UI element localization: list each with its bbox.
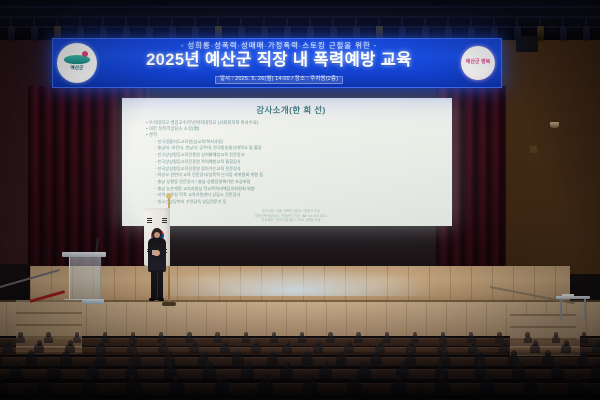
audience-head: [564, 340, 569, 346]
audience-head: [75, 332, 79, 337]
audience-head: [192, 340, 197, 346]
foreground-shadow: [0, 352, 600, 400]
audience-head: [131, 332, 135, 337]
audience-head: [441, 332, 445, 337]
audience-head: [285, 340, 290, 346]
audience-head: [161, 340, 166, 346]
banner-subtitle: - 성희롱·성폭력·성매매·가정폭력·스토킹 근절을 위한 -: [101, 42, 457, 50]
audience-head: [385, 332, 389, 337]
ceiling-lighting-rig: [0, 0, 600, 40]
audience-head: [409, 340, 414, 346]
emblem-swoosh-icon: [64, 55, 90, 64]
stage-light-icon: [583, 26, 590, 40]
audience-head: [300, 332, 304, 337]
audience-head: [187, 332, 191, 337]
audience-head: [99, 340, 104, 346]
audience-head: [497, 332, 501, 337]
lecturer-hands: [153, 250, 160, 256]
stage-light-icon: [560, 26, 567, 40]
stage-light-icon: [8, 26, 15, 40]
auditorium-photo: 강사소개(한 희 선) ▪ 우석대학교 겸임교수/부산여자대학교 (사회복지학 …: [0, 0, 600, 400]
female-lecturer-in-black: [146, 228, 168, 306]
audience-head: [378, 340, 383, 346]
audience-head: [356, 332, 360, 337]
audience-head: [471, 340, 476, 346]
audience-head: [316, 340, 321, 346]
wall-sconce-icon: [550, 122, 559, 128]
audience-head: [254, 340, 259, 346]
stage-light-icon: [537, 26, 544, 40]
logo-right-label: 예산군 행복: [466, 60, 490, 66]
audience-head: [347, 340, 352, 346]
banner-title: 2025년 예산군 직장 내 폭력예방 교육: [101, 52, 457, 69]
wall-speaker-icon: [516, 36, 538, 52]
audience-head: [6, 340, 11, 346]
audience-head: [328, 332, 332, 337]
audience-head: [595, 340, 600, 346]
audience-head: [244, 332, 248, 337]
lecturer-shoe-right: [158, 298, 164, 301]
audience-head: [18, 332, 22, 337]
audience-head: [46, 332, 50, 337]
audience-head: [533, 340, 538, 346]
banner-text-block: - 성희롱·성폭력·성매매·가정폭력·스토킹 근절을 위한 - 2025년 예산…: [97, 42, 461, 84]
audience-head: [554, 332, 558, 337]
stage-spotlight: [150, 266, 440, 296]
campaign-logo-icon: 예산군 행복: [461, 46, 495, 80]
audience-head: [582, 332, 586, 337]
event-banner: 예산군 - 성희롱·성폭력·성매매·가정폭력·스토킹 근절을 위한 - 2025…: [52, 38, 502, 88]
side-table-right: [556, 296, 590, 322]
lecturer-shoe-left: [149, 298, 155, 301]
audience-head: [272, 332, 276, 337]
audience-head: [37, 340, 42, 346]
audience-head: [525, 332, 529, 337]
audience-head: [413, 332, 417, 337]
audience-head: [502, 340, 507, 346]
audience-head: [215, 332, 219, 337]
audience-head: [440, 340, 445, 346]
banner-datetime-venue: 일시 : 2025. 5. 26(월) 14:00 / 장소 : 주차동(2층): [215, 76, 343, 84]
audience-head: [68, 340, 73, 346]
audience-head: [130, 340, 135, 346]
lectern-body: [69, 257, 101, 299]
logo-left-label: 예산군: [70, 65, 83, 71]
yesan-county-logo-icon: 예산군: [57, 43, 97, 83]
wall-outlet-icon: [530, 146, 537, 153]
stage-light-icon: [31, 26, 38, 40]
audience-head: [223, 340, 228, 346]
audience-head: [103, 332, 107, 337]
acrylic-lectern: [62, 252, 106, 304]
